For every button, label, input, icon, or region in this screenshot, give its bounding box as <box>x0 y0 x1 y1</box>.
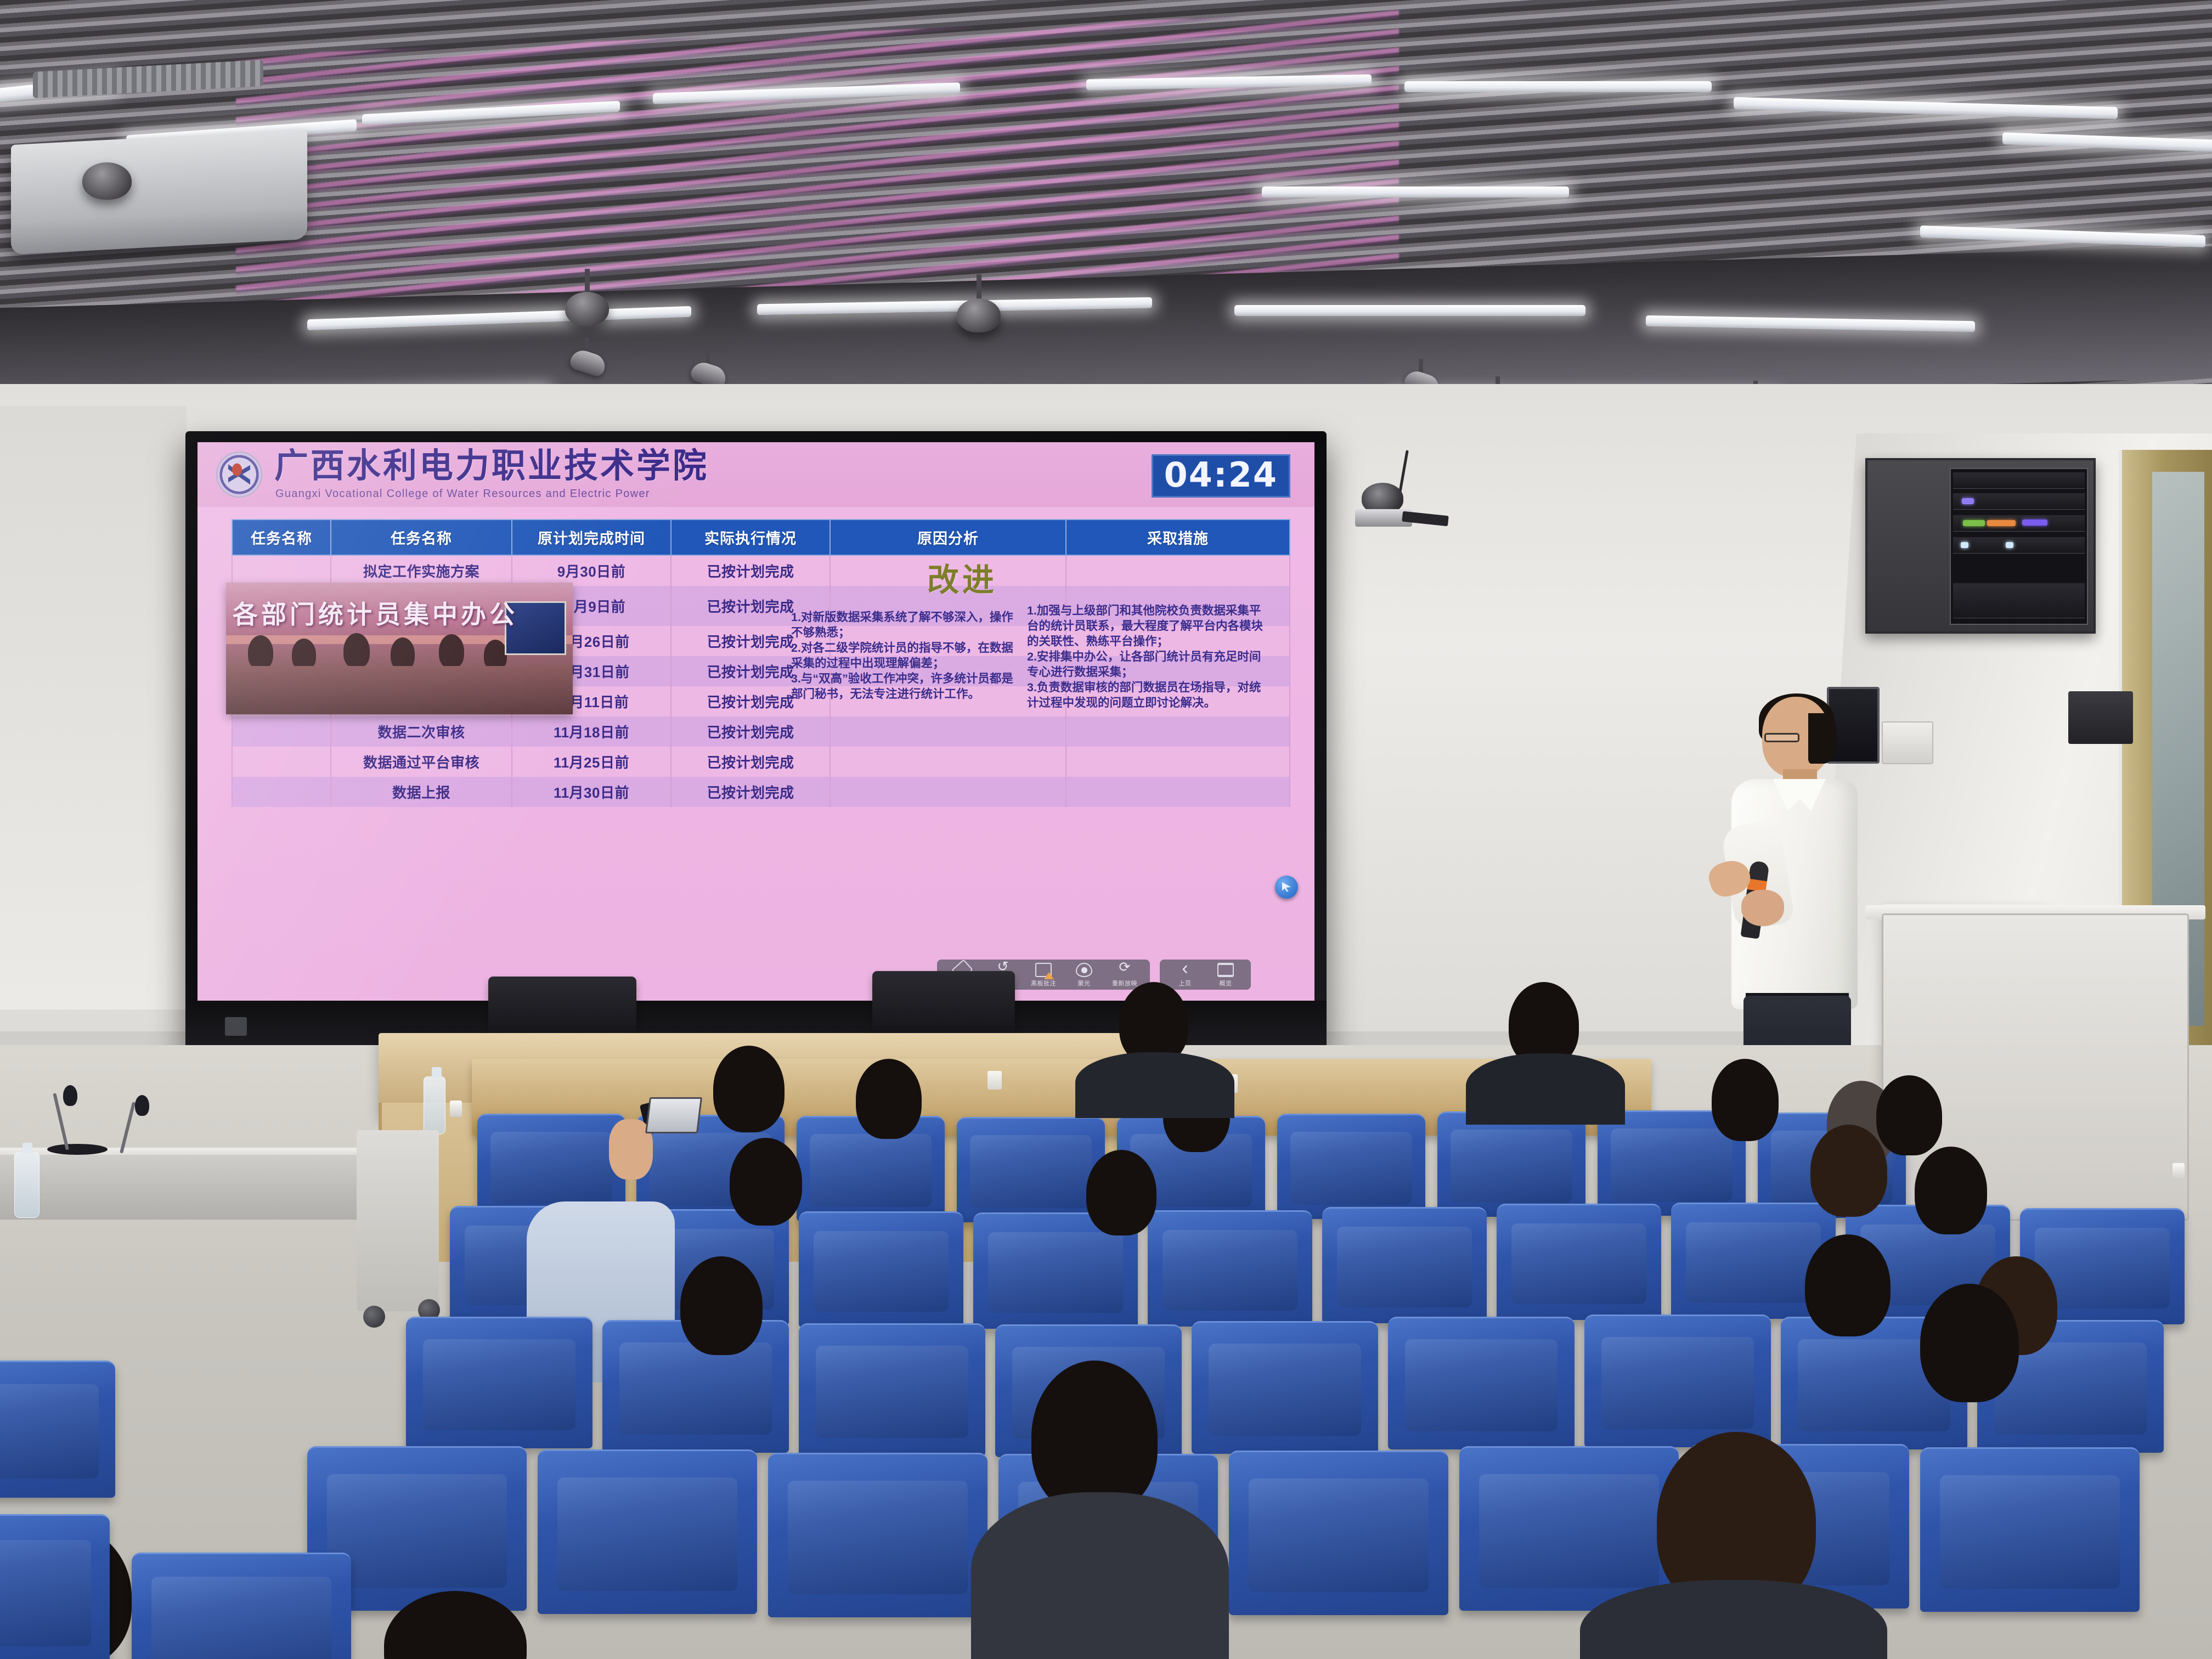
cell-cause <box>830 777 1066 807</box>
rack-led <box>1987 520 2016 526</box>
rack-unit <box>1953 537 2085 554</box>
countdown-timer: 04:24 <box>1152 454 1290 498</box>
cart-caster <box>363 1306 385 1328</box>
board-icon <box>1035 963 1052 977</box>
ceiling-tube-light <box>1404 81 1712 92</box>
cell-date: 11月18日前 <box>512 716 671 747</box>
cell-category <box>232 716 331 747</box>
auditorium-seat[interactable] <box>1388 1317 1575 1449</box>
attendee-head <box>1810 1125 1887 1217</box>
slide-header: 广西水利电力职业技术学院 Guangxi Vocational College … <box>198 442 1314 507</box>
rack-unit <box>1953 583 2085 618</box>
toolbar-restart-button[interactable]: 重新放映 <box>1105 963 1144 988</box>
auditorium-seat[interactable] <box>1148 1210 1312 1327</box>
th-task-name: 任务名称 <box>331 520 512 555</box>
ceiling-speaker-pod <box>565 292 609 326</box>
side-desk <box>0 1155 417 1220</box>
rack-led <box>1962 498 1974 504</box>
cell-measure <box>1066 747 1290 777</box>
attendee-shoulders <box>1466 1053 1625 1125</box>
th-actual-status: 实际执行情况 <box>671 520 830 555</box>
attendee-head <box>713 1046 785 1132</box>
attendee-head <box>1805 1234 1891 1336</box>
auditorium-seat[interactable] <box>1192 1321 1378 1454</box>
cause-analysis-text: 1.对新版数据采集系统了解不够深入，操作不够熟悉； 2.对各二级学院统计员的指导… <box>791 610 1020 702</box>
cell-task: 数据通过平台审核 <box>331 747 512 777</box>
wall-control-panel[interactable] <box>2068 691 2133 744</box>
attendee-shoulders <box>971 1492 1229 1659</box>
auditorium-seat[interactable] <box>0 1514 110 1659</box>
attendee-head <box>1712 1059 1779 1141</box>
cell-category <box>232 777 331 807</box>
inset-photo-caption: 各部门统计员集中办公 <box>233 595 573 631</box>
slide-body: 任务名称 任务名称 原计划完成时间 实际执行情况 原因分析 采取措施 <box>198 507 1314 1001</box>
th-cause-analysis: 原因分析 <box>830 520 1066 555</box>
water-bottle <box>424 1076 445 1135</box>
school-crest-icon <box>216 452 262 498</box>
presenter-hand-right <box>1741 890 1784 926</box>
cell-status: 已按计划完成 <box>671 555 830 586</box>
rack-led <box>2022 520 2047 526</box>
grid-icon <box>1217 963 1234 977</box>
auditorium-seat[interactable] <box>1437 1111 1585 1217</box>
toolbar-overview-button[interactable]: 概览 <box>1206 963 1245 988</box>
attendee-head <box>856 1059 922 1139</box>
auditorium-seat[interactable] <box>799 1211 963 1328</box>
cell-cause <box>830 747 1066 777</box>
aisle-light <box>450 1101 462 1117</box>
ceiling-pod-stem <box>977 274 981 302</box>
table-row: 数据上报 11月30日前 已按计划完成 <box>232 777 1290 807</box>
attendee-head <box>680 1256 763 1355</box>
microphone-head-icon <box>63 1085 77 1106</box>
wall-outlet-plate <box>1882 721 1933 764</box>
prev-slide-icon <box>1177 963 1193 977</box>
microphone-base <box>47 1144 108 1155</box>
toolbar-prev-slide-button[interactable]: 上页 <box>1165 963 1205 988</box>
th-planned-date: 原计划完成时间 <box>512 520 671 555</box>
aisle-light <box>2172 1163 2185 1180</box>
th-task-category: 任务名称 <box>232 520 331 555</box>
toolbar-board-button[interactable]: 黑板批注 <box>1024 963 1063 988</box>
rack-unit <box>1953 493 2085 510</box>
attendee-head <box>1086 1150 1156 1235</box>
auditorium-seat[interactable] <box>1229 1451 1448 1615</box>
cell-task: 数据二次审核 <box>331 716 512 747</box>
university-name-cn: 广西水利电力职业技术学院 <box>274 449 709 483</box>
table-row: 数据二次审核 11月18日前 已按计划完成 <box>232 716 1290 747</box>
av-equipment-rack <box>1950 468 2088 625</box>
auditorium-seat[interactable] <box>1497 1204 1661 1320</box>
auditorium-seat[interactable] <box>1584 1314 1771 1447</box>
auditorium-seat[interactable] <box>957 1117 1105 1222</box>
ceiling-speaker-pod <box>957 298 1001 332</box>
auditorium-seat[interactable] <box>799 1323 985 1456</box>
auditorium-seat[interactable] <box>132 1553 351 1659</box>
cell-date: 11月25日前 <box>512 747 671 777</box>
ceiling-tube-light <box>1262 187 1569 198</box>
air-conditioner-unit <box>11 129 307 255</box>
attendee-head <box>1876 1075 1942 1155</box>
attendee-shoulders <box>1075 1052 1234 1118</box>
toolbar-spotlight-button[interactable]: 聚光 <box>1064 963 1104 988</box>
presenter-toolbar-secondary[interactable]: 上页 概览 <box>1160 960 1251 990</box>
auditorium-seat[interactable] <box>1459 1446 1679 1611</box>
cell-task: 数据上报 <box>331 777 512 807</box>
attendee-head <box>1915 1147 1987 1234</box>
auditorium-seat[interactable] <box>1277 1114 1425 1219</box>
table-header-row: 任务名称 任务名称 原计划完成时间 实际执行情况 原因分析 采取措施 <box>232 520 1290 555</box>
auditorium-seat[interactable] <box>1920 1447 2140 1612</box>
display-brand-logo <box>225 1017 247 1036</box>
presenter-hair-side <box>1808 713 1837 764</box>
measures-taken-text: 1.加强与上级部门和其他院校负责数据采集平台的统计员联系，最大程度了解平台内各模… <box>1027 603 1263 711</box>
cursor-pointer-icon[interactable] <box>1275 876 1298 899</box>
cell-date: 11月30日前 <box>512 777 671 807</box>
th-measures: 采取措施 <box>1066 520 1290 555</box>
auditorium-seat[interactable] <box>768 1453 988 1617</box>
eye-icon <box>1076 963 1092 977</box>
equipment-cart <box>357 1130 439 1311</box>
microphone-head-icon <box>135 1095 149 1116</box>
rack-led <box>1963 520 1985 526</box>
auditorium-seat[interactable] <box>1322 1207 1487 1323</box>
cell-cause <box>830 716 1066 747</box>
university-name-en: Guangxi Vocational College of Water Reso… <box>275 488 709 500</box>
display-screen[interactable]: 广西水利电力职业技术学院 Guangxi Vocational College … <box>198 442 1314 1001</box>
laptop <box>645 1097 702 1133</box>
lecture-hall-scene: 广西水利电力职业技术学院 Guangxi Vocational College … <box>0 0 2212 1659</box>
rack-unit <box>1953 472 2085 489</box>
attendee-head <box>730 1138 802 1226</box>
cell-status: 已按计划完成 <box>671 716 830 747</box>
cell-status: 已按计划完成 <box>671 747 830 777</box>
auditorium-seat[interactable] <box>0 1361 115 1498</box>
auditorium-seat[interactable] <box>406 1317 592 1448</box>
cell-measure <box>1066 716 1290 747</box>
cell-status: 已按计划完成 <box>671 777 830 807</box>
table-row: 数据通过平台审核 11月25日前 已按计划完成 <box>232 747 1290 777</box>
ptz-camera <box>1355 483 1421 530</box>
table-row: 拟定工作实施方案 9月30日前 已按计划完成 <box>232 555 1290 586</box>
desk-clip <box>988 1071 1002 1090</box>
improve-heading: 改进 <box>927 554 997 600</box>
restart-icon <box>1116 963 1133 977</box>
ceiling-tube-light <box>1234 305 1585 316</box>
attendee-head <box>1920 1284 2019 1402</box>
cell-task: 拟定工作实施方案 <box>331 555 512 586</box>
left-wall-panel <box>0 406 187 1009</box>
rack-unit <box>1953 515 2085 532</box>
interactive-display[interactable]: 广西水利电力职业技术学院 Guangxi Vocational College … <box>185 431 1327 1051</box>
presenter <box>1695 697 1860 1081</box>
rack-led <box>2006 542 2013 548</box>
rack-led <box>1961 542 1968 548</box>
wall-speaker-and-rack <box>1865 458 2096 634</box>
glasses-icon <box>1764 733 1799 742</box>
auditorium-seat[interactable] <box>538 1449 757 1614</box>
water-bottle <box>14 1152 39 1218</box>
cell-category <box>232 747 331 777</box>
cell-date: 9月30日前 <box>512 555 671 586</box>
presentation-slide: 广西水利电力职业技术学院 Guangxi Vocational College … <box>198 442 1314 1001</box>
cell-measure <box>1066 777 1290 807</box>
cell-measure <box>1066 555 1290 586</box>
attendee-head <box>1031 1361 1158 1514</box>
cell-category <box>232 555 331 586</box>
ceiling-speaker-pod <box>82 162 132 200</box>
